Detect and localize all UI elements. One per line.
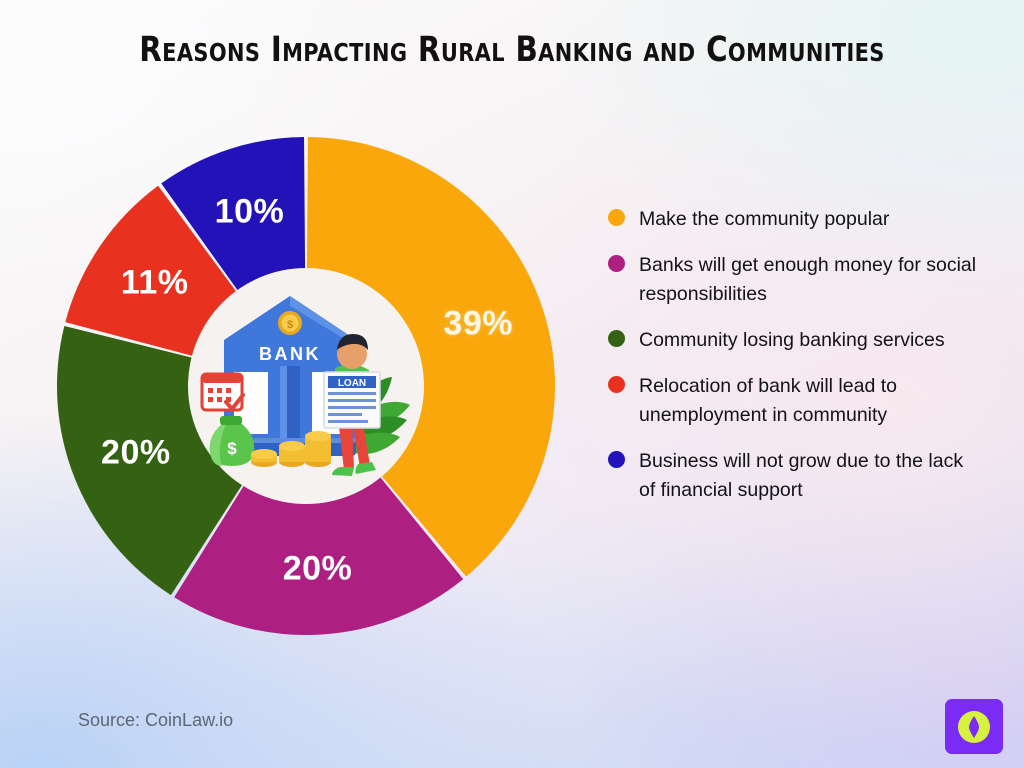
- legend-item[interactable]: Community losing banking services: [608, 326, 998, 355]
- legend-dot-icon: [608, 255, 625, 272]
- legend-item[interactable]: Relocation of bank will lead to unemploy…: [608, 372, 998, 430]
- legend-item-label: Relocation of bank will lead to unemploy…: [639, 372, 979, 430]
- legend-dot-icon: [608, 451, 625, 468]
- legend-dot-icon: [608, 330, 625, 347]
- calendar-icon: [202, 374, 243, 410]
- legend-dot-icon: [608, 376, 625, 393]
- coinlaw-logo-icon: [954, 707, 994, 747]
- loan-document-icon: LOAN: [324, 372, 380, 428]
- page-title: Reasons Impacting Rural Banking and Comm…: [36, 30, 988, 70]
- legend-item[interactable]: Banks will get enough money for social r…: [608, 251, 998, 309]
- infographic-canvas: Reasons Impacting Rural Banking and Comm…: [0, 0, 1024, 768]
- bank-illustration: $ BANK: [188, 268, 424, 504]
- coinlaw-logo[interactable]: [945, 699, 1003, 754]
- source-attribution: Source: CoinLaw.io: [78, 710, 233, 731]
- coin-icon: $: [278, 311, 302, 335]
- chart-legend: Make the community popular Banks will ge…: [608, 205, 998, 522]
- legend-item-label: Business will not grow due to the lack o…: [639, 447, 979, 505]
- svg-text:$: $: [287, 319, 293, 331]
- bank-column-center-hl: [280, 366, 287, 438]
- legend-item-label: Banks will get enough money for social r…: [639, 251, 979, 309]
- svg-text:$: $: [227, 439, 237, 458]
- legend-item-label: Community losing banking services: [639, 326, 945, 355]
- svg-text:LOAN: LOAN: [338, 378, 366, 389]
- bank-illustration-svg: $ BANK: [188, 268, 424, 504]
- bank-sign-label: BANK: [259, 344, 321, 364]
- legend-dot-icon: [608, 209, 625, 226]
- legend-item-label: Make the community popular: [639, 205, 889, 234]
- donut-chart: $ BANK: [57, 137, 555, 635]
- legend-item[interactable]: Make the community popular: [608, 205, 998, 234]
- legend-item[interactable]: Business will not grow due to the lack o…: [608, 447, 998, 505]
